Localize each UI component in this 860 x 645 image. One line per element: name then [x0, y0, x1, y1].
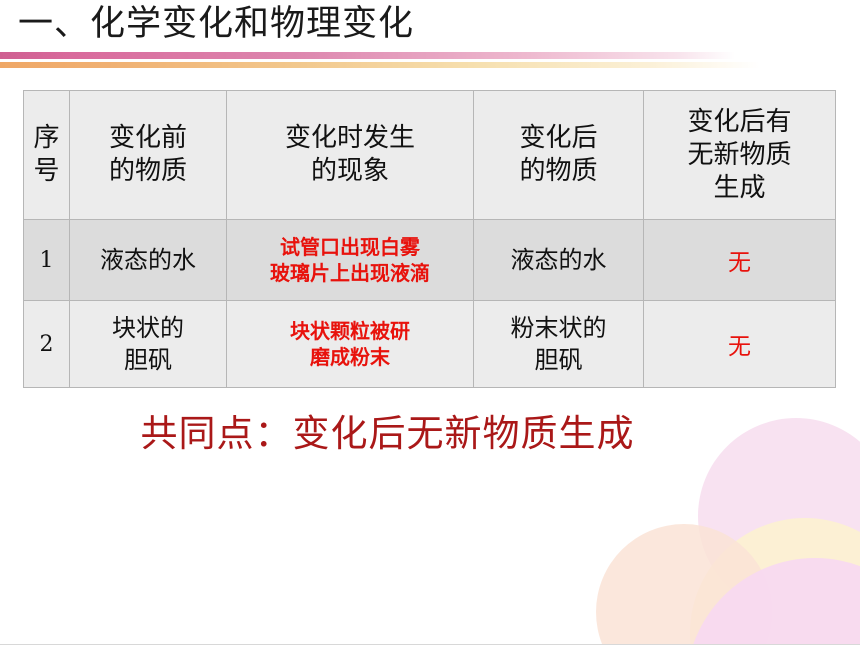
column-header-before: 变化前 的物质: [70, 91, 227, 220]
cell-after: 粉末状的 胆矾: [474, 301, 644, 388]
cell-index: 2: [24, 301, 70, 388]
table-row: 1 液态的水 试管口出现白雾 玻璃片上出现液滴 液态的水: [24, 220, 836, 301]
page-title: 一、化学变化和物理变化: [18, 2, 414, 46]
cell-line: 试管口出现白雾: [227, 234, 473, 260]
decorative-circle-peach: [596, 524, 772, 645]
cell-after: 液态的水: [474, 220, 644, 301]
header-line: 生成: [644, 172, 835, 205]
divider-rule-pink: [0, 52, 735, 59]
cell-line: 胆矾: [70, 344, 226, 376]
header-line: 的现象: [227, 155, 473, 188]
cell-line: 液态的水: [70, 244, 226, 276]
cell-phenomenon: 块状颗粒被研 磨成粉末: [227, 301, 474, 388]
cell-phenomenon: 试管口出现白雾 玻璃片上出现液滴: [227, 220, 474, 301]
decorative-circle-cream: [690, 518, 860, 645]
cell-line: 块状的: [70, 312, 226, 344]
table-header-row: 序 号 变化前 的物质 变化时发生 的现象: [24, 91, 836, 220]
divider-rule-orange: [0, 62, 760, 68]
column-header-phenomenon: 变化时发生 的现象: [227, 91, 474, 220]
cell-line: 粉末状的: [474, 312, 643, 344]
cell-before: 液态的水: [70, 220, 227, 301]
slide-canvas: 一、化学变化和物理变化 序 号 变化前: [0, 0, 860, 645]
cell-line: 磨成粉末: [227, 344, 473, 370]
column-header-after: 变化后 的物质: [474, 91, 644, 220]
cell-before: 块状的 胆矾: [70, 301, 227, 388]
cell-line: 玻璃片上出现液滴: [227, 260, 473, 286]
cell-index: 1: [24, 220, 70, 301]
header-line: 变化后: [474, 122, 643, 155]
header-line: 号: [24, 155, 69, 188]
table-row: 2 块状的 胆矾 块状颗粒被研 磨成粉末 粉末状的: [24, 301, 836, 388]
header-line: 无新物质: [644, 139, 835, 172]
column-header-new-substance: 变化后有 无新物质 生成: [644, 91, 836, 220]
decorative-circle-magenta: [686, 558, 860, 645]
conclusion-text: 共同点：变化后无新物质生成: [0, 410, 775, 458]
header-line: 变化时发生: [227, 122, 473, 155]
cell-line: 液态的水: [474, 244, 643, 276]
header-line: 的物质: [474, 155, 643, 188]
header-line: 序: [24, 122, 69, 155]
column-header-index: 序 号: [24, 91, 70, 220]
header-line: 变化后有: [644, 106, 835, 139]
header-line: 变化前: [70, 122, 226, 155]
cell-new-substance: 无: [644, 301, 836, 388]
cell-new-substance: 无: [644, 220, 836, 301]
header-line: 的物质: [70, 155, 226, 188]
cell-line: 胆矾: [474, 344, 643, 376]
cell-line: 块状颗粒被研: [227, 318, 473, 344]
comparison-table: 序 号 变化前 的物质 变化时发生 的现象: [23, 90, 836, 388]
